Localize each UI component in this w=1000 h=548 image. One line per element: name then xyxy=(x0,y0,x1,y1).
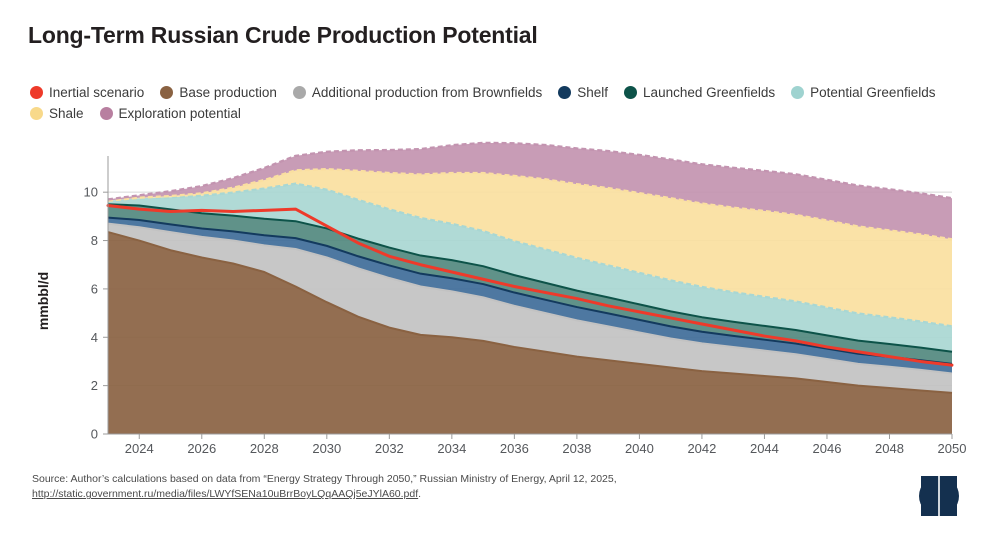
legend-item-brownfields: Additional production from Brownfields xyxy=(293,84,542,100)
x-tick-label-2030: 2030 xyxy=(312,441,341,456)
legend-swatch-exploration-potential xyxy=(100,107,113,120)
csis-logo xyxy=(916,473,962,519)
chart-page: Long-Term Russian Crude Production Poten… xyxy=(0,0,1000,548)
x-tick-label-2036: 2036 xyxy=(500,441,529,456)
x-tick-label-2050: 2050 xyxy=(938,441,967,456)
x-tick-label-2026: 2026 xyxy=(187,441,216,456)
y-tick-label-10: 10 xyxy=(84,185,98,200)
legend-swatch-shelf xyxy=(558,86,571,99)
legend-label-potential-greenfields: Potential Greenfields xyxy=(810,85,935,100)
y-tick-label-6: 6 xyxy=(91,281,98,296)
source-url-suffix: . xyxy=(418,488,421,500)
x-tick-label-2042: 2042 xyxy=(687,441,716,456)
x-tick-label-2038: 2038 xyxy=(562,441,591,456)
legend-swatch-launched-greenfields xyxy=(624,86,637,99)
y-tick-label-8: 8 xyxy=(91,233,98,248)
x-tick-labels: 2024202620282030203220342036203820402042… xyxy=(125,434,967,456)
chart-legend: Inertial scenarioBase productionAddition… xyxy=(30,84,970,126)
legend-item-inertial-scenario: Inertial scenario xyxy=(30,84,144,100)
x-tick-label-2048: 2048 xyxy=(875,441,904,456)
area-chart-svg: 0246810 20242026202820302032203420362038… xyxy=(0,140,1000,460)
legend-label-inertial-scenario: Inertial scenario xyxy=(49,85,144,100)
legend-item-base-production: Base production xyxy=(160,84,277,100)
legend-item-exploration-potential: Exploration potential xyxy=(100,105,241,121)
x-tick-label-2044: 2044 xyxy=(750,441,779,456)
legend-item-potential-greenfields: Potential Greenfields xyxy=(791,84,935,100)
legend-label-brownfields: Additional production from Brownfields xyxy=(312,85,542,100)
x-tick-label-2046: 2046 xyxy=(813,441,842,456)
legend-item-launched-greenfields: Launched Greenfields xyxy=(624,84,775,100)
legend-label-shelf: Shelf xyxy=(577,85,608,100)
legend-swatch-inertial-scenario xyxy=(30,86,43,99)
source-note: Source: Author’s calculations based on d… xyxy=(32,472,732,502)
source-text: Source: Author’s calculations based on d… xyxy=(32,473,617,485)
source-link[interactable]: http://static.government.ru/media/files/… xyxy=(32,488,418,500)
y-axis-title: mmbbl/d xyxy=(35,272,51,330)
legend-item-shelf: Shelf xyxy=(558,84,608,100)
legend-swatch-brownfields xyxy=(293,86,306,99)
legend-swatch-shale xyxy=(30,107,43,120)
y-tick-label-4: 4 xyxy=(91,330,98,345)
plot-area: 0246810 20242026202820302032203420362038… xyxy=(0,140,1000,460)
x-tick-label-2028: 2028 xyxy=(250,441,279,456)
y-tick-label-2: 2 xyxy=(91,378,98,393)
legend-swatch-potential-greenfields xyxy=(791,86,804,99)
legend-label-exploration-potential: Exploration potential xyxy=(119,106,241,121)
x-tick-label-2024: 2024 xyxy=(125,441,154,456)
legend-item-shale: Shale xyxy=(30,105,84,121)
y-tick-labels: 0246810 xyxy=(84,185,108,442)
legend-label-shale: Shale xyxy=(49,106,84,121)
x-tick-label-2034: 2034 xyxy=(437,441,466,456)
y-tick-label-0: 0 xyxy=(91,427,98,442)
legend-label-launched-greenfields: Launched Greenfields xyxy=(643,85,775,100)
legend-label-base-production: Base production xyxy=(179,85,277,100)
page-title: Long-Term Russian Crude Production Poten… xyxy=(28,22,538,49)
legend-swatch-base-production xyxy=(160,86,173,99)
x-tick-label-2040: 2040 xyxy=(625,441,654,456)
x-tick-label-2032: 2032 xyxy=(375,441,404,456)
